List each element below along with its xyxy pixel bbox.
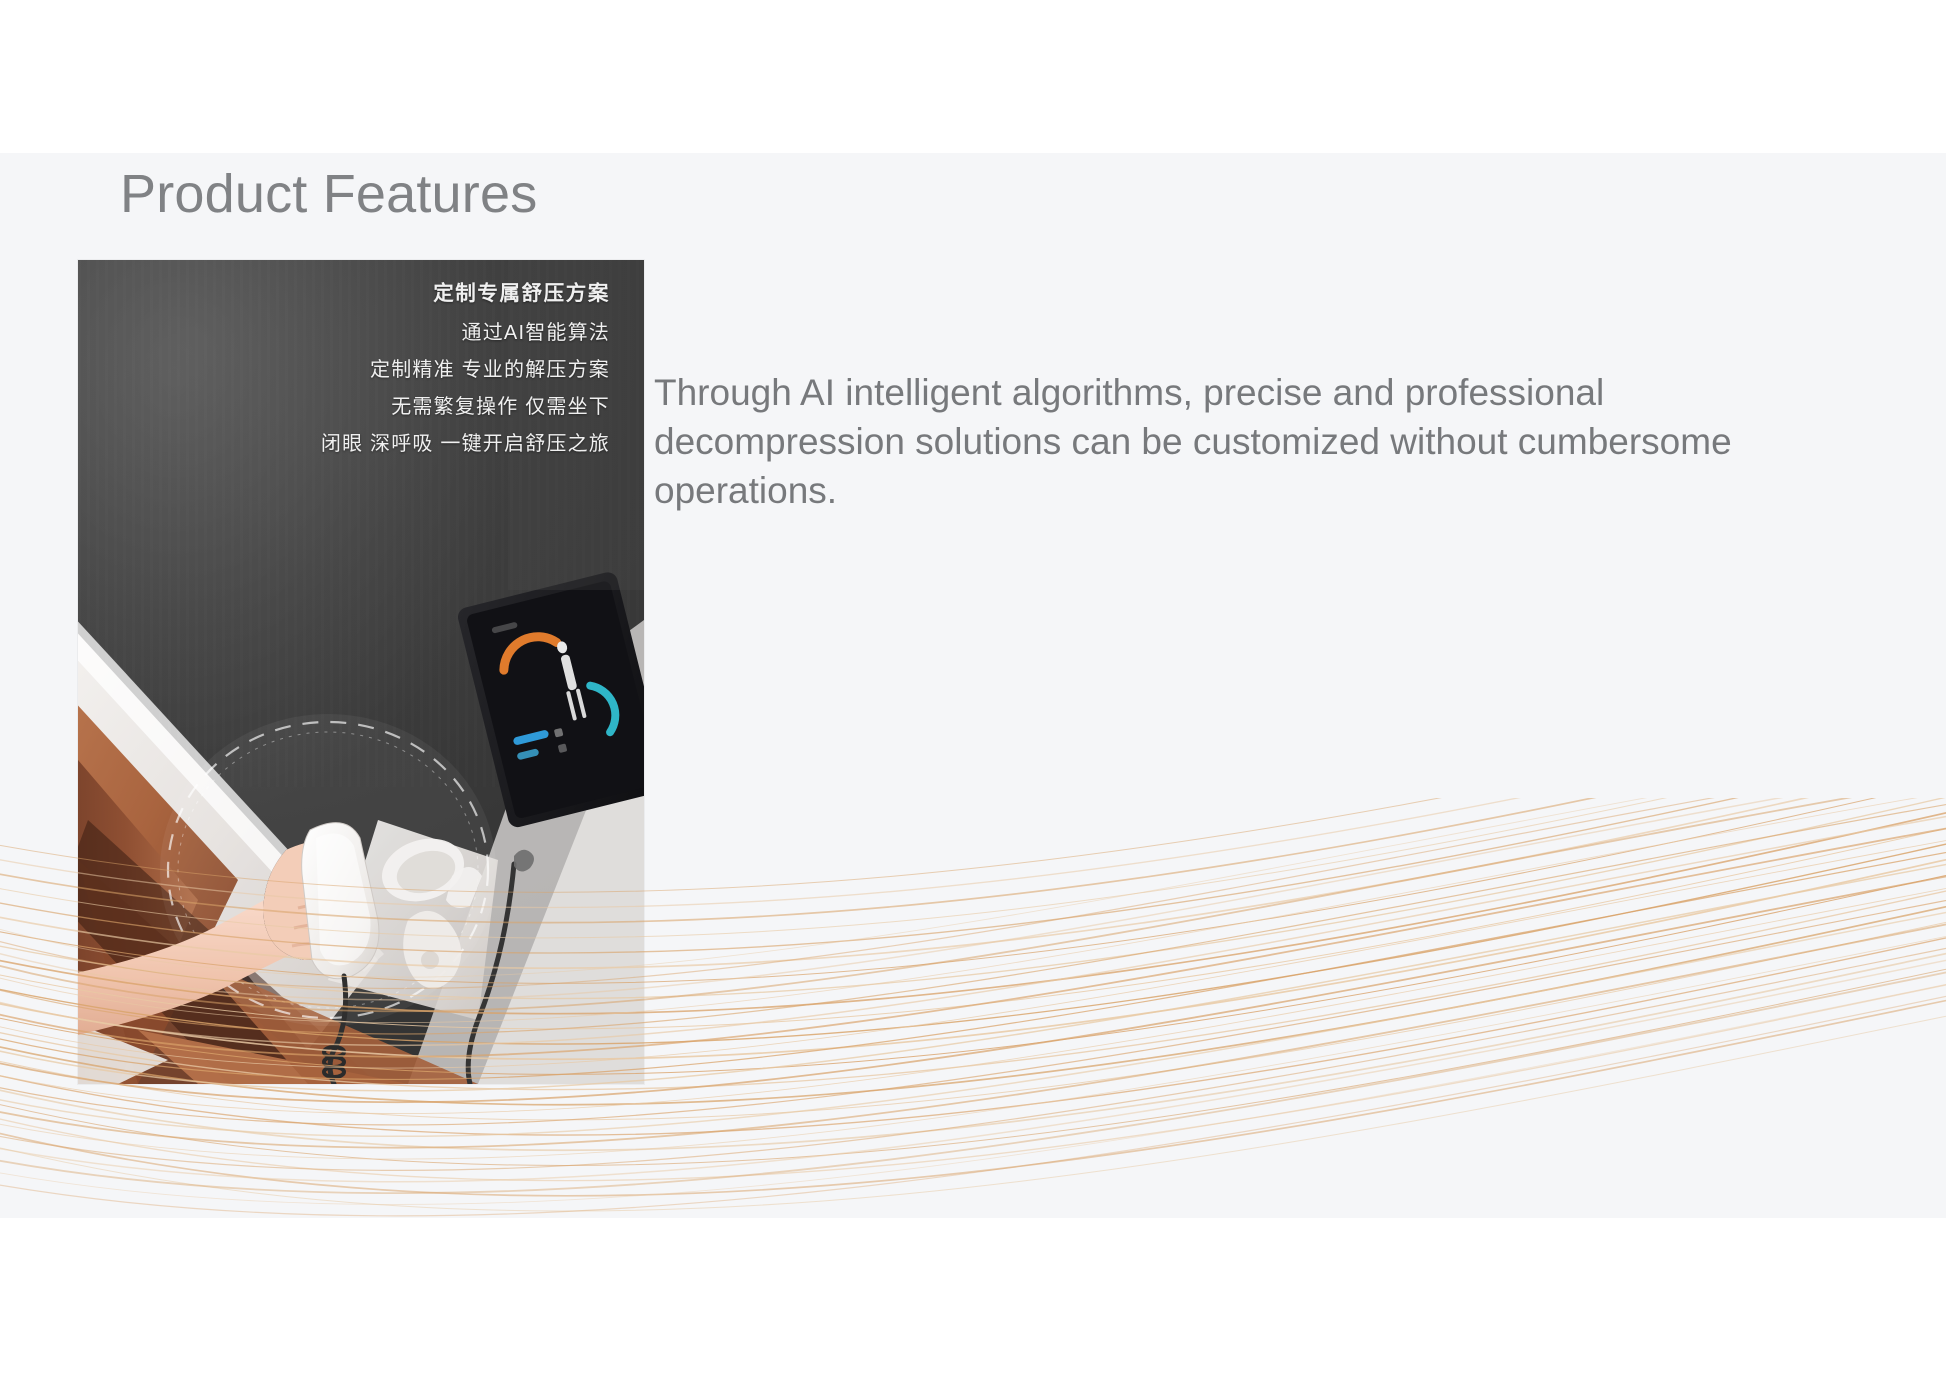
body-paragraph: Through AI intelligent algorithms, preci…: [654, 369, 1844, 515]
product-photo: 定制专属舒压方案 通过AI智能算法 定制精准 专业的解压方案 无需繁复操作 仅需…: [78, 260, 644, 1084]
slide-canvas: Product Features: [0, 153, 1946, 1218]
overlay-headline: 定制专属舒压方案: [250, 284, 610, 305]
page-title: Product Features: [120, 165, 537, 224]
overlay-line-3: 无需繁复操作 仅需坐下: [250, 397, 610, 417]
photo-overlay-text: 定制专属舒压方案 通过AI智能算法 定制精准 专业的解压方案 无需繁复操作 仅需…: [250, 284, 610, 471]
overlay-line-1: 通过AI智能算法: [250, 323, 610, 343]
overlay-line-2: 定制精准 专业的解压方案: [250, 360, 610, 380]
overlay-line-4: 闭眼 深呼吸 一键开启舒压之旅: [250, 434, 610, 454]
